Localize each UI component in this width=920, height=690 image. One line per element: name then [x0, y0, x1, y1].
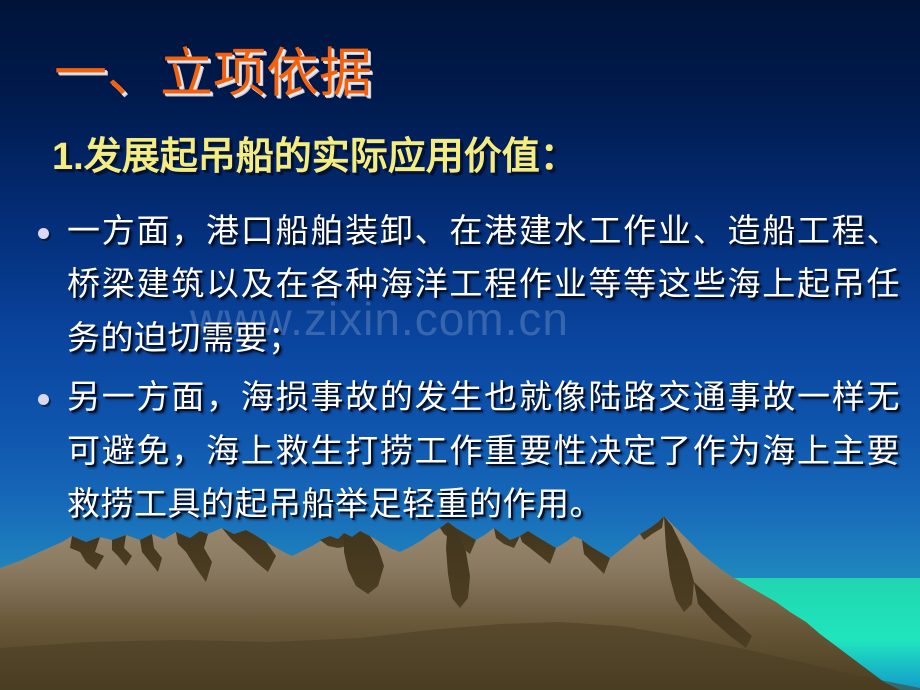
- slide-canvas: www.zixin.com.cn 一、立项依据 1.发展起吊船的实际应用价值： …: [0, 0, 920, 690]
- slide-content: 一、立项依据 1.发展起吊船的实际应用价值： 一方面，港口船舶装卸、在港建水工作…: [0, 0, 920, 690]
- bullet-list: 一方面，港口船舶装卸、在港建水工作业、造船工程、桥梁建筑以及在各种海洋工程作业等…: [38, 206, 900, 539]
- bullet-dot-icon: [38, 228, 49, 239]
- bullet-dot-icon: [38, 394, 49, 405]
- section-subtitle: 1.发展起吊船的实际应用价值：: [52, 136, 578, 180]
- bullet-text: 一方面，港口船舶装卸、在港建水工作业、造船工程、桥梁建筑以及在各种海洋工程作业等…: [67, 206, 900, 366]
- list-item: 一方面，港口船舶装卸、在港建水工作业、造船工程、桥梁建筑以及在各种海洋工程作业等…: [38, 206, 900, 366]
- page-title: 一、立项依据: [54, 44, 372, 103]
- bullet-text: 另一方面，海损事故的发生也就像陆路交通事故一样无可避免，海上救生打捞工作重要性决…: [67, 372, 900, 532]
- list-item: 另一方面，海损事故的发生也就像陆路交通事故一样无可避免，海上救生打捞工作重要性决…: [38, 372, 900, 532]
